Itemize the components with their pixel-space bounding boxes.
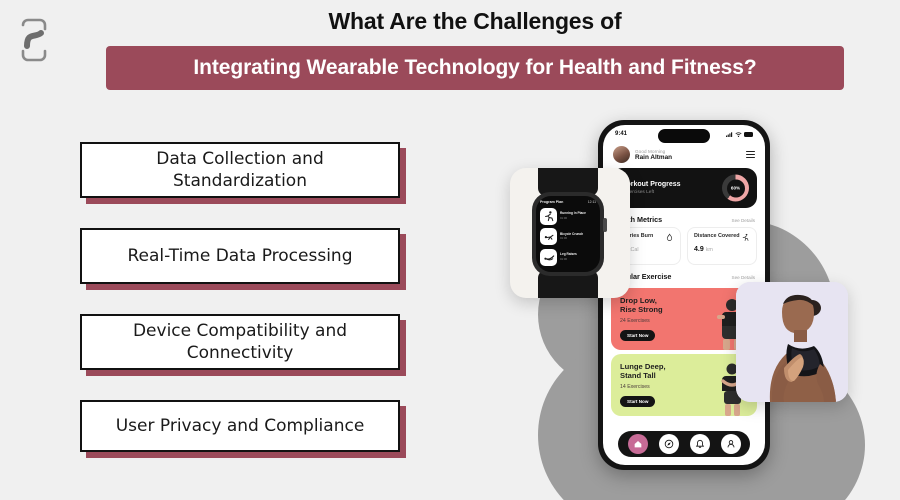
tab-notifications[interactable]	[690, 434, 710, 454]
page-subtitle: Integrating Wearable Technology for Heal…	[193, 56, 756, 80]
metric-name: Distance Covered	[694, 233, 740, 240]
greeting-row: Good Morning Rain Altman	[603, 141, 765, 166]
profile-icon	[726, 439, 736, 449]
brand-logo-icon	[18, 18, 50, 62]
challenge-label: User Privacy and Compliance	[116, 415, 365, 437]
metric-card[interactable]: Distance Covered 4.9 km	[687, 227, 757, 265]
challenge-label: Device Compatibility and Connectivity	[96, 320, 384, 364]
greeting-text: Good Morning Rain Altman	[635, 149, 672, 161]
page-title: What Are the Challenges of	[105, 8, 845, 35]
metric-value: 4.9 km	[694, 246, 750, 253]
metric-number: 4.9	[694, 246, 704, 253]
signal-icon	[726, 132, 733, 137]
watch-crown[interactable]	[603, 218, 607, 232]
bottom-tab-bar	[618, 431, 750, 457]
challenge-label: Data Collection and Standardization	[96, 148, 384, 192]
woman-meditating-photo	[736, 282, 848, 402]
bell-icon	[695, 439, 705, 449]
watch-title: Program Plan	[540, 200, 563, 204]
metric-header: Distance Covered	[694, 233, 750, 242]
leg-raise-icon	[543, 251, 555, 263]
challenge-label: Real-Time Data Processing	[127, 245, 352, 267]
progress-ring: 60%	[722, 175, 749, 202]
watch-exercise-text: Running In Place 01:00	[560, 212, 586, 220]
progress-ring-label: 60%	[731, 186, 740, 191]
popular-exercise-see-details-link[interactable]: See Details	[732, 275, 756, 280]
tab-profile[interactable]	[721, 434, 741, 454]
smartwatch-mockup: Program Plan 12:11 Running In Place	[510, 168, 630, 298]
runner-icon	[741, 233, 750, 242]
wifi-icon	[735, 132, 742, 137]
greeting-name: Rain Altman	[635, 154, 672, 161]
watch-body: Program Plan 12:11 Running In Place	[532, 192, 604, 276]
challenge-item[interactable]: Real-Time Data Processing	[80, 228, 400, 284]
watch-exercise-row[interactable]: Leg Raises 01:00	[540, 249, 596, 266]
device-artwork: 9:41	[500, 100, 900, 500]
status-time: 9:41	[615, 131, 627, 137]
watch-screen: Program Plan 12:11 Running In Place	[536, 196, 600, 272]
slide-canvas: What Are the Challenges of Integrating W…	[0, 0, 900, 500]
workout-progress-card[interactable]: Workout Progress 4 Exercises Left 60%	[611, 168, 757, 208]
title-banner: Integrating Wearable Technology for Heal…	[106, 46, 844, 90]
fitness-photo-card	[736, 282, 848, 402]
watch-exercise-thumb	[540, 208, 557, 225]
tab-home[interactable]	[628, 434, 648, 454]
start-now-button[interactable]: Start Now	[620, 330, 655, 341]
watch-exercise-thumb	[540, 249, 557, 266]
hamburger-menu-icon[interactable]	[746, 151, 755, 158]
watch-time: 12:11	[588, 200, 596, 204]
running-icon	[543, 210, 555, 222]
avatar[interactable]	[613, 146, 630, 163]
health-metrics-see-details-link[interactable]: See Details	[732, 218, 756, 223]
crunch-icon	[543, 231, 555, 243]
challenge-item[interactable]: User Privacy and Compliance	[80, 400, 400, 452]
watch-exercise-sub: 01:00	[560, 257, 577, 261]
watch-exercise-row[interactable]: Running In Place 01:00	[540, 208, 596, 225]
tab-explore[interactable]	[659, 434, 679, 454]
watch-exercise-row[interactable]: Bicycle Crunch 01:00	[540, 228, 596, 245]
watch-exercise-text: Bicycle Crunch 01:00	[560, 233, 583, 241]
watch-exercise-sub: 01:00	[560, 236, 583, 240]
status-icons	[726, 132, 753, 137]
home-icon	[633, 439, 643, 449]
challenge-item[interactable]: Device Compatibility and Connectivity	[80, 314, 400, 370]
dynamic-island	[658, 129, 710, 143]
watch-header: Program Plan 12:11	[540, 200, 596, 204]
challenge-item[interactable]: Data Collection and Standardization	[80, 142, 400, 198]
compass-icon	[664, 439, 674, 449]
metric-unit: km	[706, 247, 713, 253]
battery-icon	[744, 132, 753, 137]
start-now-button[interactable]: Start Now	[620, 396, 655, 407]
watch-exercise-text: Leg Raises 01:00	[560, 253, 577, 261]
flame-icon	[665, 233, 674, 242]
watch-exercise-thumb	[540, 228, 557, 245]
watch-exercise-sub: 01:00	[560, 216, 586, 220]
